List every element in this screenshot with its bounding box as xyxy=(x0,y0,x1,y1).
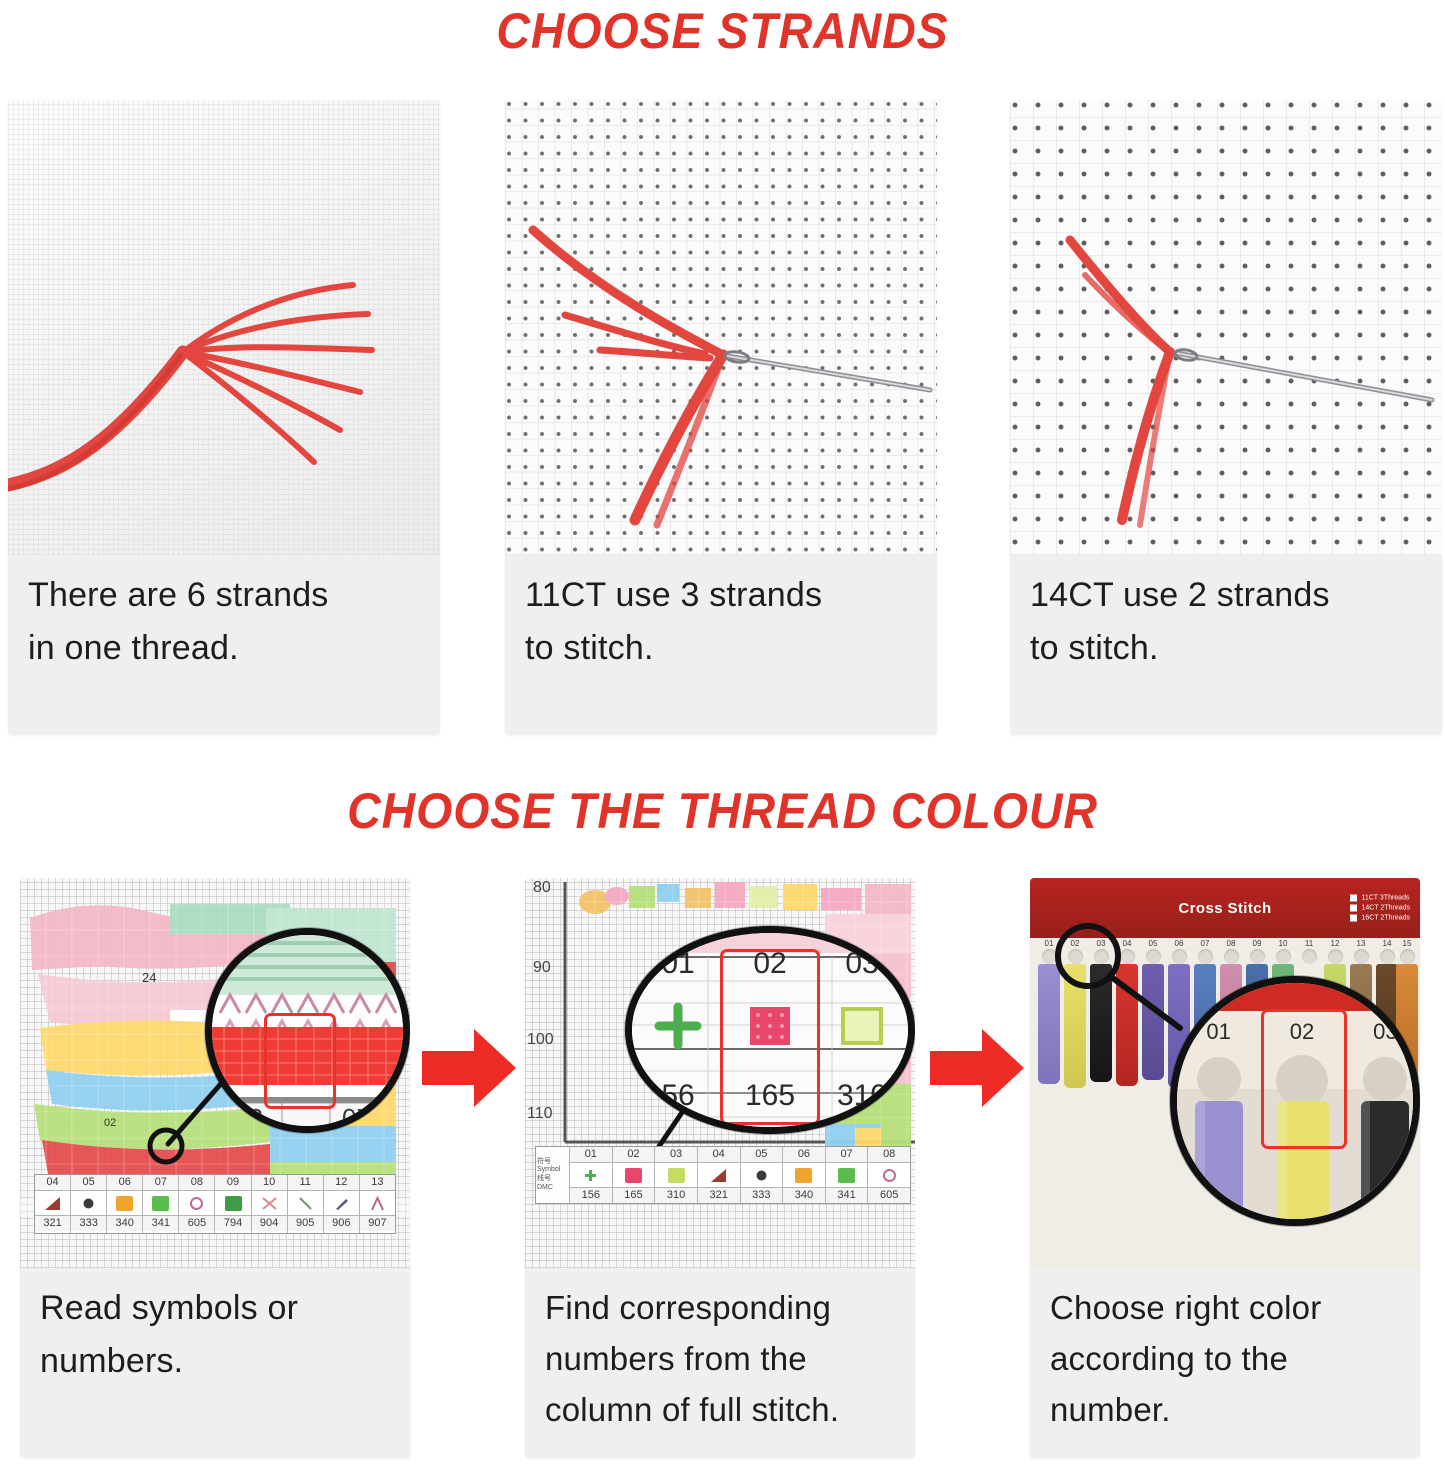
legend-column: 04 321 xyxy=(35,1175,71,1233)
legend-symbol xyxy=(783,1163,825,1187)
legend-header: 05 xyxy=(71,1175,106,1191)
caption-line: according to the xyxy=(1050,1333,1400,1384)
legend-dmc: 321 xyxy=(35,1215,70,1231)
legend-column: 11 905 xyxy=(288,1175,324,1233)
legend-dmc: 907 xyxy=(360,1215,395,1231)
caption-line: column of full stitch. xyxy=(545,1384,895,1435)
caption-line: There are 6 strands xyxy=(28,569,420,622)
legend-symbol xyxy=(252,1191,287,1215)
legend-header: 12 xyxy=(324,1175,359,1191)
legend-symbol xyxy=(215,1191,250,1215)
mag-skein-number: 01 xyxy=(1177,1019,1260,1045)
legend-header: 10 xyxy=(252,1175,287,1191)
panel-11ct: 11CT use 3 strands to stitch. xyxy=(505,100,937,735)
arrow-right-1 xyxy=(422,1025,518,1111)
legend-dmc: 333 xyxy=(71,1215,106,1231)
thread-needle-11ct-illustration xyxy=(505,100,937,555)
panel-14ct: 14CT use 2 strands to stitch. xyxy=(1010,100,1442,735)
caption-line: to stitch. xyxy=(525,622,917,675)
legend-dmc: 340 xyxy=(107,1215,142,1231)
magnified-pattern-detail: 02 07 xyxy=(212,935,403,1126)
legend-header: 04 xyxy=(35,1175,70,1191)
legend-symbol xyxy=(360,1191,395,1215)
legend-header: 08 xyxy=(179,1175,214,1191)
legend-column: 09 794 xyxy=(215,1175,251,1233)
legend-header: 06 xyxy=(107,1175,142,1191)
legend-symbol xyxy=(570,1163,612,1187)
caption-find-numbers: Find corresponding numbers from the colu… xyxy=(525,1268,915,1445)
legend-dmc: 605 xyxy=(179,1215,214,1231)
legend-dmc: 341 xyxy=(143,1215,178,1231)
photo-thread-card: Cross Stitch 11CT 3Threads 14CT 2Threads… xyxy=(1030,878,1420,1268)
legend-column: 05 333 xyxy=(741,1147,784,1203)
legend-symbol xyxy=(868,1163,910,1187)
caption-line: to stitch. xyxy=(1030,622,1422,675)
legend-row-labels: 符号 Symbol 线号 DMC xyxy=(536,1147,570,1203)
legend-symbol xyxy=(71,1191,106,1215)
legend-column: 01 156 xyxy=(570,1147,613,1203)
caption-line: Read symbols or xyxy=(40,1282,390,1335)
mag-column-label: 03 xyxy=(845,947,878,981)
legend-dmc: 906 xyxy=(324,1215,359,1231)
mag-symbol-cross xyxy=(653,1001,703,1059)
legend-column: 06 340 xyxy=(783,1147,826,1203)
panel-read-symbols: 24 02 xyxy=(20,878,410,1458)
legend-dmc: 165 xyxy=(613,1187,655,1203)
arrow-right-2 xyxy=(930,1025,1026,1111)
legend-symbol xyxy=(179,1191,214,1215)
caption-read-symbols: Read symbols or numbers. xyxy=(20,1268,410,1397)
mag-dmc-number: 56 xyxy=(661,1079,694,1113)
caption-six-strands: There are 6 strands in one thread. xyxy=(8,555,440,684)
infographic-page: CHOOSE STRANDS There are 6 xyxy=(0,0,1445,1476)
caption-line: in one thread. xyxy=(28,622,420,675)
legend-header: 06 xyxy=(783,1147,825,1163)
caption-line: number. xyxy=(1050,1384,1400,1435)
legend-header: 13 xyxy=(360,1175,395,1191)
legend-header: 05 xyxy=(741,1147,783,1163)
highlight-box-column-02 xyxy=(720,949,820,1125)
magnified-chart-cells: 01 02 03 xyxy=(632,933,908,1127)
legend-header: 07 xyxy=(143,1175,178,1191)
legend-dmc: 904 xyxy=(252,1215,287,1231)
caption-line: Choose right color xyxy=(1050,1282,1400,1333)
legend-symbol xyxy=(655,1163,697,1187)
legend-symbol xyxy=(288,1191,323,1215)
legend-dmc: 333 xyxy=(741,1187,783,1203)
legend-strip-symbols: 04 321 05 333 06 340 07 341 xyxy=(34,1174,396,1234)
highlight-box-skein-02 xyxy=(1261,1009,1347,1149)
mag-symbol-open-square xyxy=(837,1001,887,1059)
photo-pattern-chart: 24 02 xyxy=(20,878,410,1268)
mag-dmc-number: 310 xyxy=(837,1079,887,1113)
caption-choose-color: Choose right color according to the numb… xyxy=(1030,1268,1420,1445)
legend-column: 13 907 xyxy=(360,1175,395,1233)
legend-column: 08 605 xyxy=(179,1175,215,1233)
legend-row-label-dmc: 线号 DMC xyxy=(537,1175,568,1193)
legend-dmc: 341 xyxy=(826,1187,868,1203)
caption-line: numbers from the xyxy=(545,1333,895,1384)
legend-column: 12 906 xyxy=(324,1175,360,1233)
mag-column-label: 01 xyxy=(661,947,694,981)
legend-strip-numbers: 符号 Symbol 线号 DMC 01 156 02 165 03 310 xyxy=(535,1146,911,1204)
legend-column: 05 333 xyxy=(71,1175,107,1233)
legend-symbol xyxy=(698,1163,740,1187)
legend-header: 11 xyxy=(288,1175,323,1191)
magnifier-lens-skeins: 01 02 03 xyxy=(1170,976,1420,1226)
legend-dmc: 794 xyxy=(215,1215,250,1231)
legend-header: 02 xyxy=(613,1147,655,1163)
legend-column: 06 340 xyxy=(107,1175,143,1233)
photo-11ct xyxy=(505,100,937,555)
magnifier-lens-numbers: 01 02 03 xyxy=(625,926,915,1134)
legend-column: 08 605 xyxy=(868,1147,910,1203)
legend-symbol xyxy=(143,1191,178,1215)
section-title-choose-strands: CHOOSE STRANDS xyxy=(51,2,1395,60)
caption-line: 11CT use 3 strands xyxy=(525,569,917,622)
legend-symbol xyxy=(741,1163,783,1187)
magnified-skein-detail: 01 02 03 xyxy=(1177,983,1413,1219)
legend-column: 10 904 xyxy=(252,1175,288,1233)
legend-header: 01 xyxy=(570,1147,612,1163)
panel-find-numbers: 80 90 100 110 xyxy=(525,878,915,1458)
panel-choose-color: Cross Stitch 11CT 3Threads 14CT 2Threads… xyxy=(1030,878,1420,1458)
legend-symbol xyxy=(324,1191,359,1215)
magnifier-lens-symbols: 02 07 xyxy=(205,928,410,1133)
legend-header: 04 xyxy=(698,1147,740,1163)
caption-14ct: 14CT use 2 strands to stitch. xyxy=(1010,555,1442,684)
photo-six-strands xyxy=(8,100,440,555)
legend-dmc: 605 xyxy=(868,1187,910,1203)
panel-six-strands: There are 6 strands in one thread. xyxy=(8,100,440,735)
legend-header: 09 xyxy=(215,1175,250,1191)
caption-line: Find corresponding xyxy=(545,1282,895,1333)
legend-column: 04 321 xyxy=(698,1147,741,1203)
highlight-box-symbols xyxy=(264,1013,336,1109)
legend-symbol xyxy=(35,1191,70,1215)
legend-column: 07 341 xyxy=(143,1175,179,1233)
legend-column: 03 310 xyxy=(655,1147,698,1203)
legend-dmc: 321 xyxy=(698,1187,740,1203)
legend-dmc: 905 xyxy=(288,1215,323,1231)
legend-row-label-symbol: 符号 Symbol xyxy=(537,1158,568,1176)
legend-symbol xyxy=(613,1163,655,1187)
section-title-choose-thread-colour: CHOOSE THE THREAD COLOUR xyxy=(51,782,1395,840)
thread-six-strands-illustration xyxy=(8,100,440,555)
legend-dmc: 156 xyxy=(570,1187,612,1203)
legend-column: 07 341 xyxy=(826,1147,869,1203)
legend-dmc: 340 xyxy=(783,1187,825,1203)
caption-line: numbers. xyxy=(40,1335,390,1388)
legend-symbol xyxy=(107,1191,142,1215)
legend-column: 02 165 xyxy=(613,1147,656,1203)
legend-header: 03 xyxy=(655,1147,697,1163)
photo-pattern-chart-numbers: 80 90 100 110 xyxy=(525,878,915,1268)
photo-14ct xyxy=(1010,100,1442,555)
mag-skein-number: 03 xyxy=(1344,1019,1420,1045)
legend-header: 08 xyxy=(868,1147,910,1163)
legend-symbol xyxy=(826,1163,868,1187)
legend-header: 07 xyxy=(826,1147,868,1163)
thread-needle-14ct-illustration xyxy=(1010,100,1442,555)
caption-11ct: 11CT use 3 strands to stitch. xyxy=(505,555,937,684)
caption-line: 14CT use 2 strands xyxy=(1030,569,1422,622)
legend-dmc: 310 xyxy=(655,1187,697,1203)
